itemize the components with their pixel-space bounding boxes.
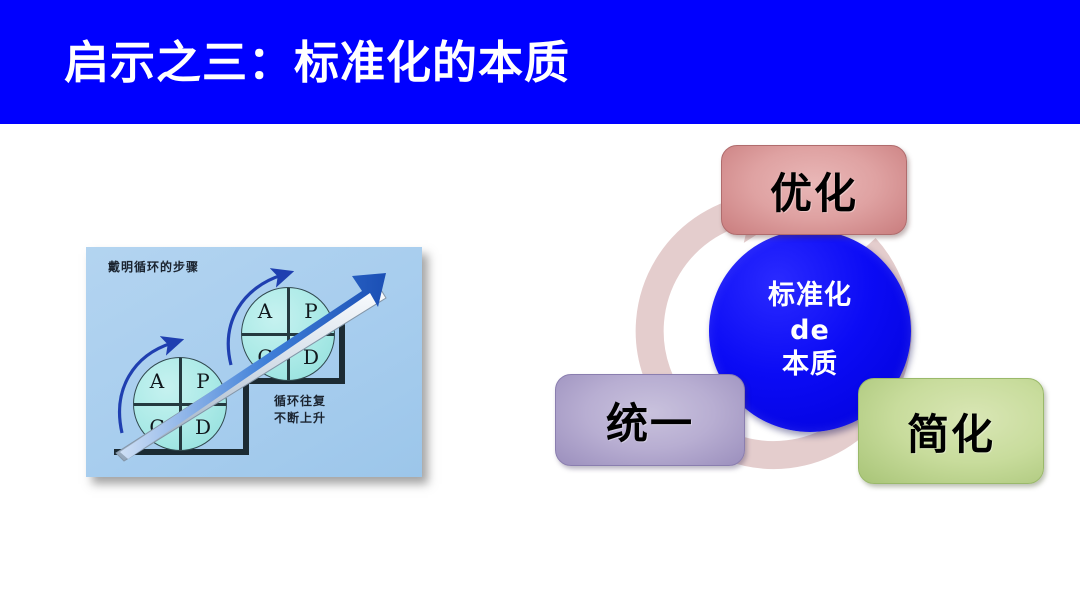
slide-title-bar: 启示之三：标准化的本质	[0, 0, 1080, 124]
cycle-node-unify[interactable]: 统一	[555, 374, 745, 466]
slide-title-text: 启示之三：标准化的本质	[64, 32, 570, 94]
cycle-node-optimize-label: 优化	[770, 160, 858, 221]
standardization-cycle-diagram: 优化 标准化 de 本质 统一 简化	[540, 130, 1080, 530]
cycle-center-line-2: de	[790, 314, 830, 349]
pdca-ascending-arrow	[120, 273, 386, 459]
slide-canvas: 启示之三：标准化的本质 戴明循环的步骤 A P C D A P C D	[0, 0, 1080, 608]
cycle-node-simplify[interactable]: 简化	[858, 378, 1044, 484]
pdca-arrows-layer	[86, 247, 422, 477]
cycle-center-line-3: 本质	[782, 348, 838, 383]
cycle-node-simplify-label: 简化	[907, 401, 995, 462]
cycle-node-unify-label: 统一	[606, 390, 694, 451]
cycle-center-line-1: 标准化	[768, 279, 852, 314]
cycle-node-optimize[interactable]: 优化	[721, 145, 907, 235]
pdca-rotation-arrow-lower	[120, 343, 172, 433]
pdca-diagram-image: 戴明循环的步骤 A P C D A P C D	[86, 247, 422, 477]
